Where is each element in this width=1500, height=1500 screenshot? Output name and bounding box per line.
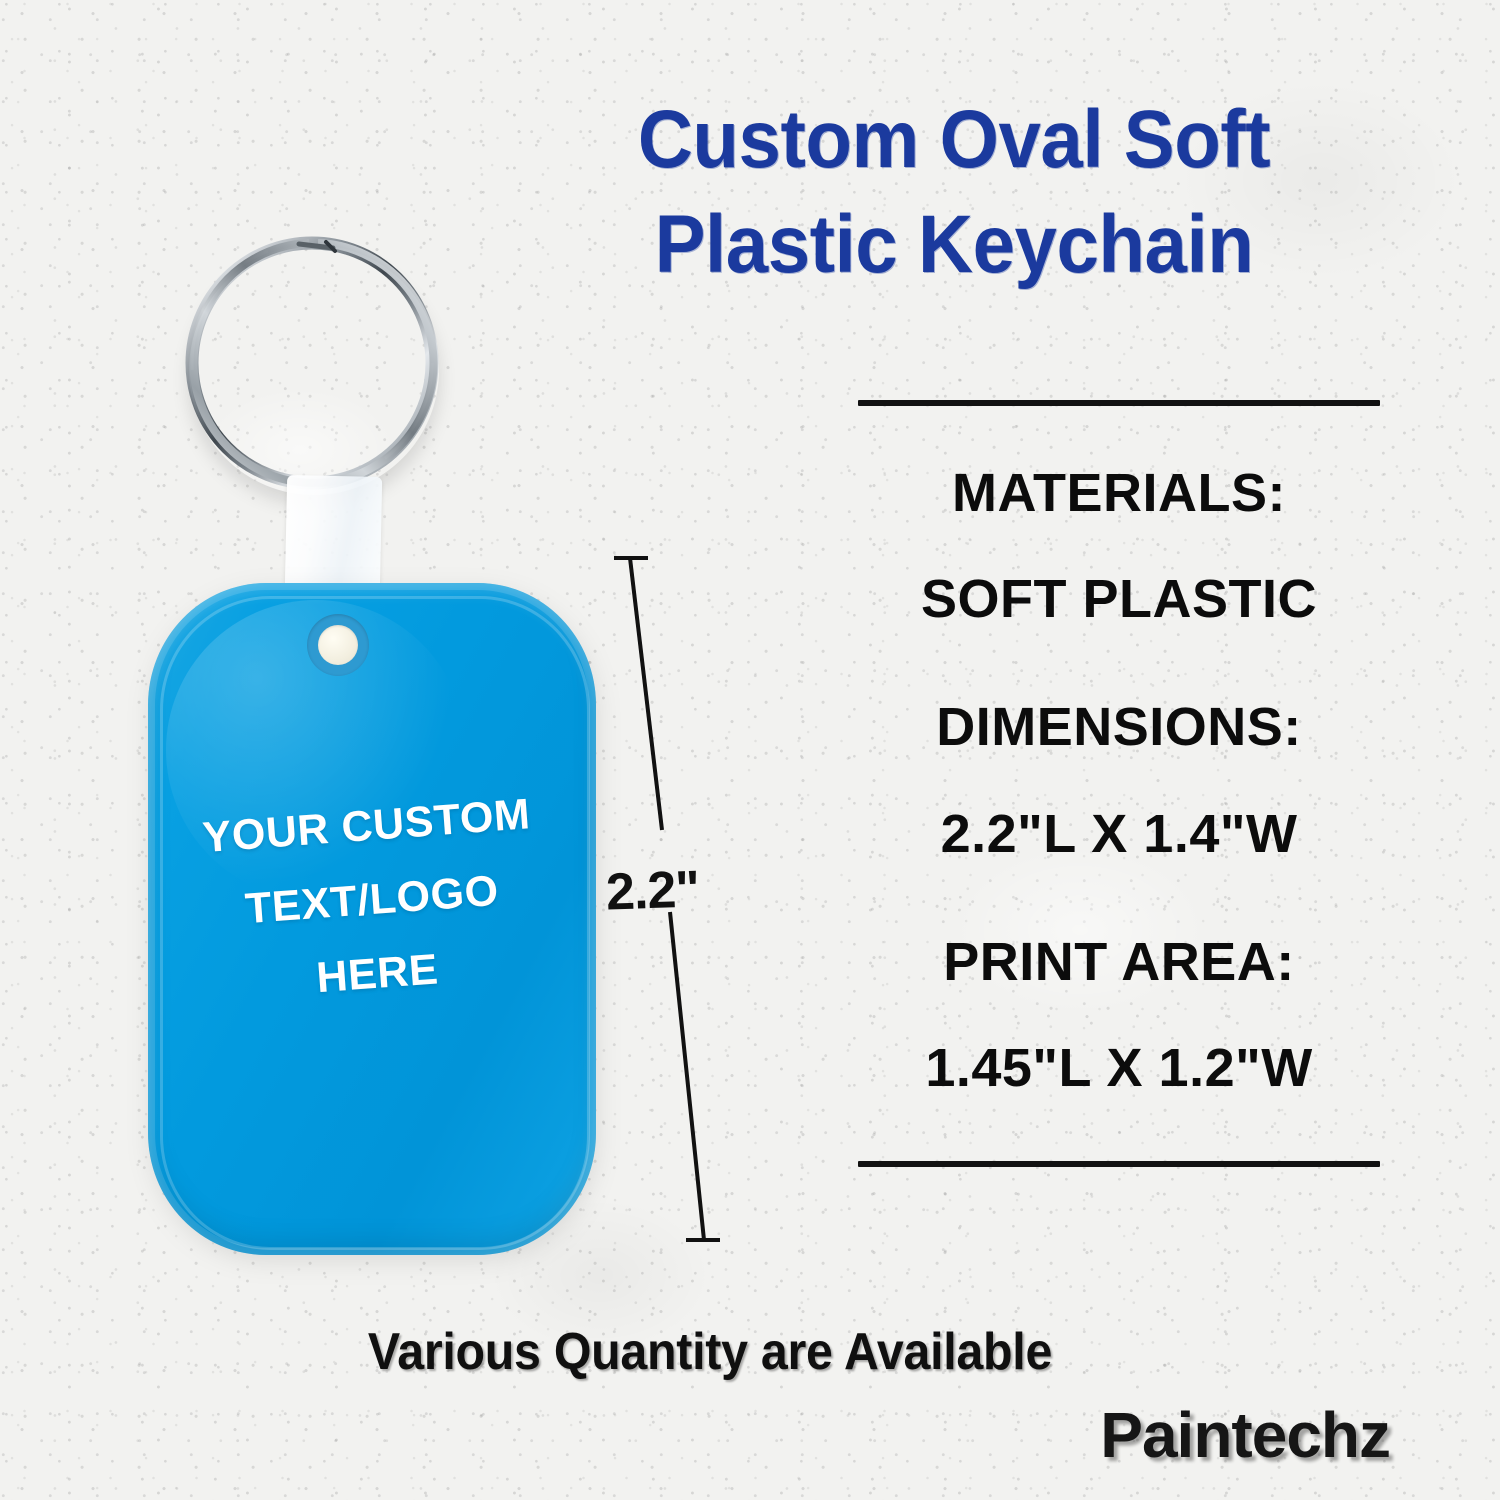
spec-divider-bottom [858,1161,1380,1167]
product-image-canvas: Custom Oval Soft Plastic Keychain [0,0,1500,1500]
brand-logo: Paintechz [760,1398,1390,1472]
spec-print-area: PRINT AREA: 1.45"L X 1.2"W [858,927,1380,1103]
spec-materials-value: SOFT PLASTIC [858,564,1380,634]
spec-materials: MATERIALS: SOFT PLASTIC [858,458,1380,634]
key-ring-shadow [189,245,439,495]
spec-dimensions-label: DIMENSIONS: [858,692,1380,762]
dimension-label: 2.2" [605,857,757,922]
quantity-note: Various Quantity are Available [217,1322,1203,1382]
key-ring [183,235,441,497]
specification-panel: MATERIALS: SOFT PLASTIC DIMENSIONS: 2.2"… [858,400,1380,1167]
custom-text-placeholder: YOUR CUSTOM TEXT/LOGO HERE [140,774,603,1028]
spec-print-area-value: 1.45"L X 1.2"W [858,1033,1380,1103]
spec-dimensions: DIMENSIONS: 2.2"L X 1.4"W [858,692,1380,868]
grommet-hole [318,625,358,665]
spec-divider-top [858,400,1380,406]
spec-print-area-label: PRINT AREA: [858,927,1380,997]
spec-materials-label: MATERIALS: [858,458,1380,528]
dimension-callout: 2.2" [600,540,760,1280]
spec-dimensions-value: 2.2"L X 1.4"W [858,799,1380,869]
